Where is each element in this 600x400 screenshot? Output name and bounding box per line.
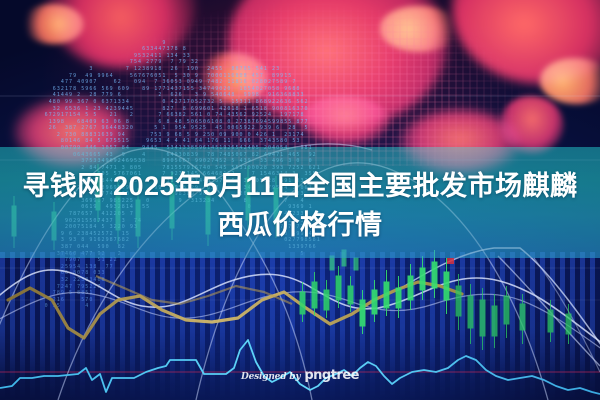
watermark-brand: pngtree xyxy=(304,368,359,383)
watermark-prefix: Designed by xyxy=(241,372,300,382)
banner-image: 9 633447378 8 9532411 134 33 xyxy=(0,0,600,400)
headline-band xyxy=(0,147,600,258)
pngtree-watermark: Designed by pngtree xyxy=(0,368,600,383)
